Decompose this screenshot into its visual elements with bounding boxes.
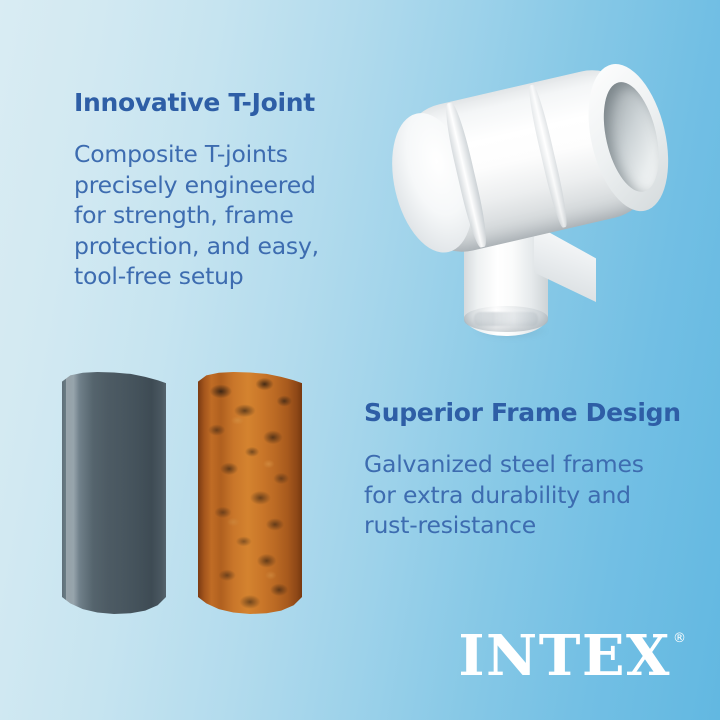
t-joint-product-image <box>388 72 670 334</box>
t-joint-embossed-marking <box>474 312 538 326</box>
feature-body-line: rust-resistance <box>364 510 681 541</box>
feature-body-line: tool-free setup <box>74 261 319 292</box>
rusted-steel-pipe <box>198 372 302 614</box>
feature-body-line: protection, and easy, <box>74 231 319 262</box>
feature-heading-t-joint: Innovative T-Joint <box>74 88 319 117</box>
feature-body-line: precisely engineered <box>74 170 319 201</box>
feature-body-line: for strength, frame <box>74 200 319 231</box>
pipe-comparison-image <box>62 372 302 620</box>
feature-body-line: for extra durability and <box>364 480 681 511</box>
feature-body-frame: Galvanized steel frames for extra durabi… <box>364 449 681 541</box>
galvanized-steel-pipe <box>62 372 166 614</box>
t-joint-barrel <box>382 58 671 263</box>
feature-body-line: Composite T-joints <box>74 139 319 170</box>
intex-wordmark: INTEX <box>458 628 671 684</box>
registered-trademark-symbol: ® <box>673 632 686 645</box>
intex-logo: INTEX ® <box>458 628 686 684</box>
feature-body-line: Galvanized steel frames <box>364 449 681 480</box>
feature-block-frame: Superior Frame Design Galvanized steel f… <box>364 398 681 541</box>
marketing-banner: Innovative T-Joint Composite T-joints pr… <box>0 0 720 720</box>
feature-heading-frame: Superior Frame Design <box>364 398 681 427</box>
feature-block-t-joint: Innovative T-Joint Composite T-joints pr… <box>74 88 319 292</box>
feature-body-t-joint: Composite T-joints precisely engineered … <box>74 139 319 292</box>
